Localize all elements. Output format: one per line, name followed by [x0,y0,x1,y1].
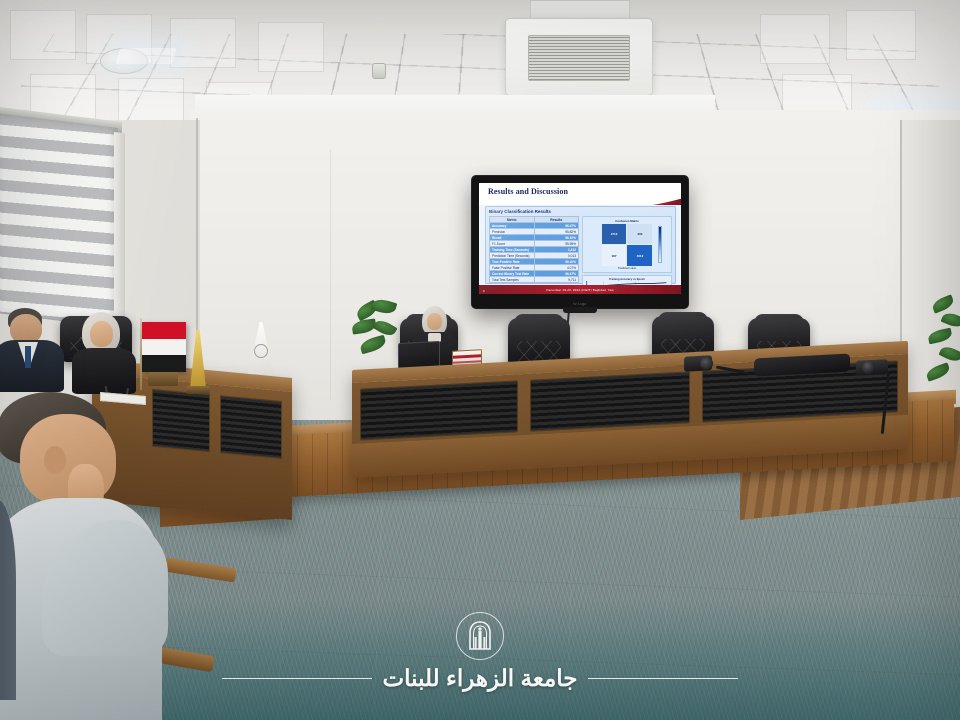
camera-lens [700,357,713,370]
committee-right-face [90,321,113,347]
slide-subheading: Binary Classification Results [489,209,672,214]
slide-title: Results and Discussion [488,187,568,196]
slide-body: Binary Classification Results Metric Res… [485,206,676,284]
smoke-detector-icon [372,63,386,79]
confusion-matrix-title: Confusion Matrix [586,219,668,223]
potted-plant-left [352,300,400,362]
confusion-matrix-grid: 47122001874612 [602,224,653,266]
tv-brand-logo: tv-logo [573,302,586,306]
slide-page-number: 9 [483,289,485,293]
slide-footer: December 19-20, 2024 (ICEIT) Baghdad, Ir… [479,285,681,294]
conference-hall-photo: Results and Discussion Binary Classifica… [0,0,960,720]
table-row: Total Test Samples9,711 [490,277,579,283]
iraq-flag [142,322,186,372]
confusion-matrix-xlabel: Predicted Label [586,267,668,270]
flag-stripe-white [142,339,186,356]
flag-stripe-red [142,322,186,339]
audience-ear [44,446,66,474]
flag-stripe-black [142,355,186,372]
confusion-matrix-colorbar [658,226,662,263]
committee-member-right [72,312,138,390]
tv-screen: Results and Discussion Binary Classifica… [479,183,681,294]
confusion-matrix-cell: 4712 [602,224,627,244]
slide-chart-column: Confusion Matrix 47122001874612 Predicte… [582,216,672,279]
camera-lens [862,361,875,374]
confusion-matrix-cell: 4612 [627,245,652,265]
zebra-roller-blind[interactable] [0,114,118,328]
side-desk-slat [220,395,282,459]
potted-plant-right [924,296,960,416]
committee-member-left [0,308,66,392]
wall-seam [330,150,331,400]
flag-base [148,372,178,386]
slide-table-column: Metric Results Accuracy96.47%Precision95… [489,216,579,279]
confusion-matrix-cell: 200 [627,224,652,244]
audience-member-foreground [0,392,190,720]
committee-left-tie [25,346,31,368]
desk-slat-panel [360,380,518,440]
cell-value: 9,711 [534,277,579,283]
wall-mounted-tv[interactable]: Results and Discussion Binary Classifica… [472,176,688,308]
desk-slat-panel [530,371,690,431]
panel-light [115,48,176,64]
presentation-slide: Results and Discussion Binary Classifica… [479,183,681,294]
ac-grille [528,35,630,81]
presenter-face [427,313,442,330]
pennant-crest-icon [254,344,268,358]
confusion-matrix-cell: 187 [602,245,627,265]
tv-mount [563,307,597,313]
cell-metric: Total Test Samples [490,277,535,283]
confusion-matrix: Confusion Matrix 47122001874612 Predicte… [582,216,672,273]
ceiling-ac-cassette-icon [505,18,653,96]
binary-classification-table: Metric Results Accuracy96.47%Precision95… [489,216,579,283]
